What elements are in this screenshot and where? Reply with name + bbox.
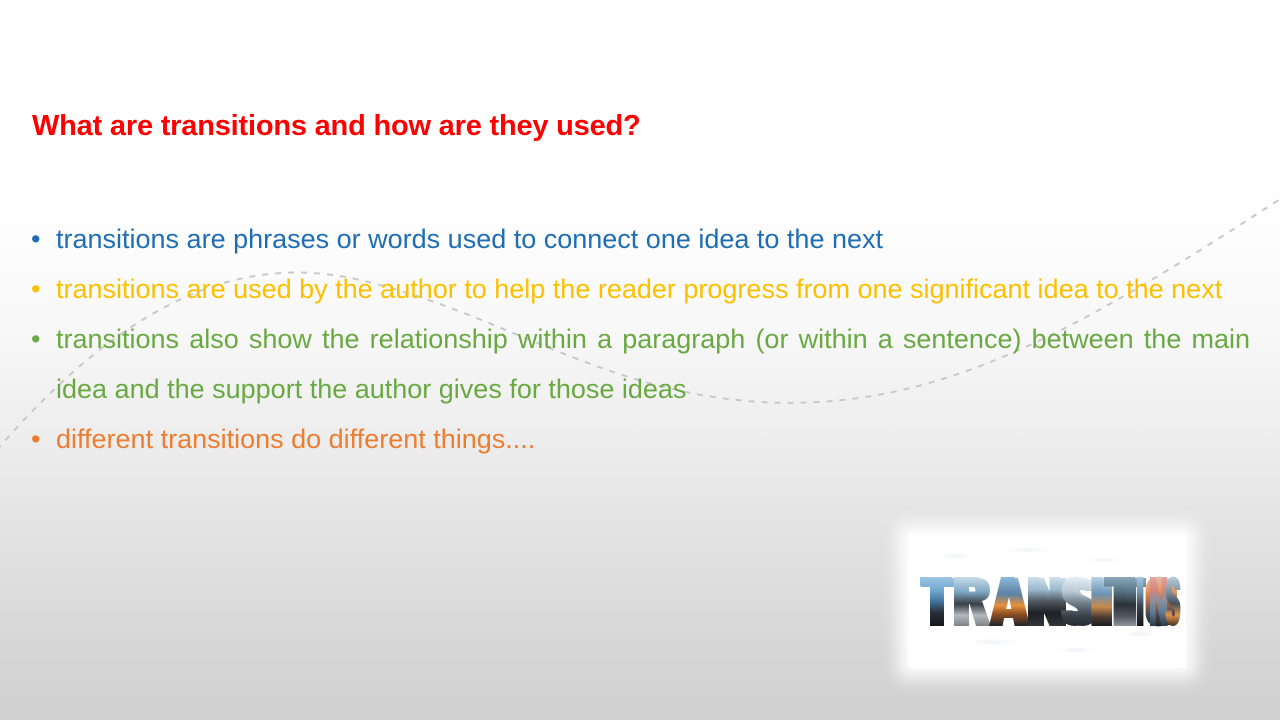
list-item-label: transitions are used by the author to he… <box>56 264 1250 314</box>
wordmark-glyphs-ns <box>908 534 1180 626</box>
wordmark-graphic-ns <box>908 534 1186 668</box>
bullet-marker-icon: • <box>28 414 56 464</box>
list-item: • transitions are used by the author to … <box>28 264 1250 314</box>
list-item-label: different transitions do different thing… <box>56 414 1250 464</box>
bullet-marker-icon: • <box>28 314 56 364</box>
list-item: • transitions are phrases or words used … <box>28 214 1250 264</box>
list-item-label: transitions also show the relationship w… <box>56 314 1250 414</box>
list-item-label: transitions are phrases or words used to… <box>56 214 1250 264</box>
wordmark-letter-n <box>1150 577 1167 626</box>
wordmark-letter-s <box>1165 577 1180 626</box>
bullet-marker-icon: • <box>28 264 56 314</box>
page-title: What are transitions and how are they us… <box>32 110 1248 143</box>
bullet-list: • transitions are phrases or words used … <box>28 214 1250 464</box>
list-item: • different transitions do different thi… <box>28 414 1250 464</box>
list-item: • transitions also show the relationship… <box>28 314 1250 414</box>
slide-canvas: What are transitions and how are they us… <box>0 0 1280 720</box>
bullet-marker-icon: • <box>28 214 56 264</box>
transitions-wordmark-image <box>908 534 1186 668</box>
